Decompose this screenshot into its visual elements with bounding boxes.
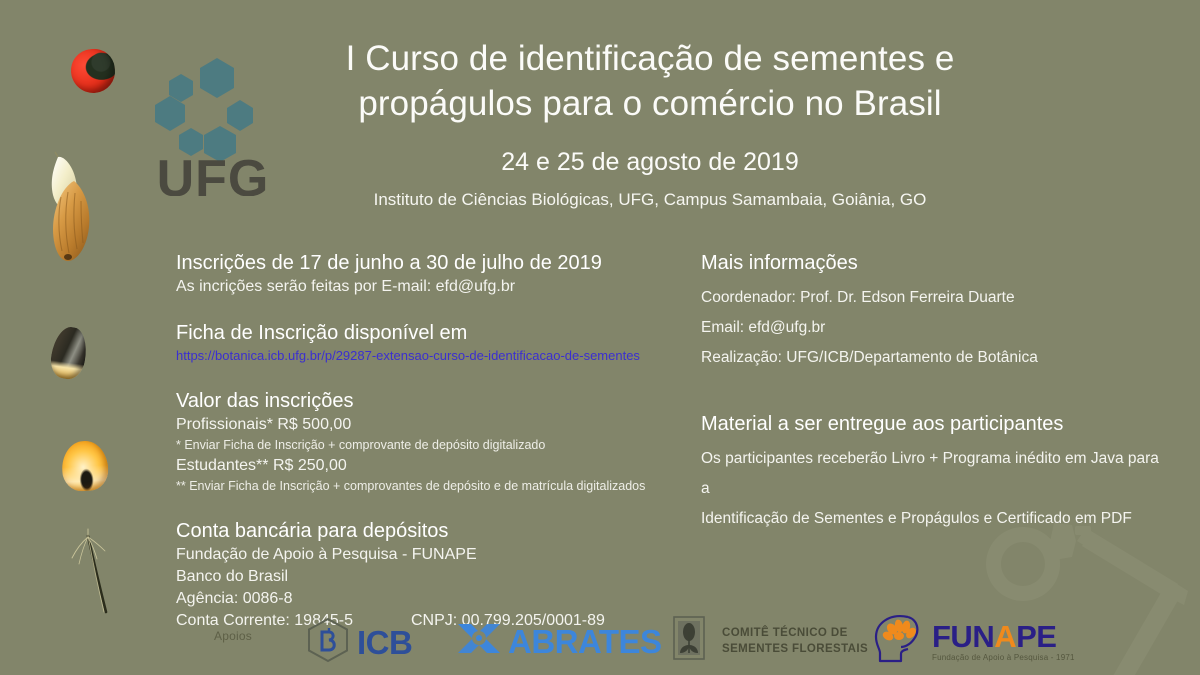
funape-part-2: A: [994, 619, 1016, 654]
info-heading: Mais informações: [701, 250, 1161, 276]
registration-note: As incrições serão feitas por E-mail: ef…: [176, 276, 646, 298]
material-line-1: Os participantes receberão Livro + Progr…: [701, 444, 1161, 504]
seed-image-dark: [48, 324, 91, 381]
registration-heading: Inscrições de 17 de junho a 30 de julho …: [176, 250, 646, 276]
ctsf-line-2: SEMENTES FLORESTAIS: [722, 643, 868, 655]
registration-form-link[interactable]: https://botanica.icb.ufg.br/p/29287-exte…: [176, 346, 640, 366]
funape-wordmark: FUNAPE Fundação de Apoio à Pesquisa - 19…: [932, 621, 1075, 662]
form-heading: Ficha de Inscrição disponível em: [176, 320, 646, 346]
logo-icb[interactable]: ICB: [305, 617, 412, 668]
funape-tagline: Fundação de Apoio à Pesquisa - 1971: [932, 653, 1075, 662]
event-location: Instituto de Ciências Biológicas, UFG, C…: [280, 190, 1020, 210]
material-line-2: Identificação de Sementes e Propágulos e…: [701, 504, 1161, 534]
bank-foundation: Fundação de Apoio à Pesquisa - FUNAPE: [176, 544, 646, 566]
fee-students: Estudantes** R$ 250,00: [176, 455, 646, 477]
bank-heading: Conta bancária para depósitos: [176, 518, 646, 544]
icb-label: ICB: [357, 624, 412, 662]
info-organizer: Realização: UFG/ICB/Departamento de Botâ…: [701, 343, 1161, 373]
material-heading: Material a ser entregue aos participante…: [701, 411, 1161, 437]
brain-head-icon: [868, 613, 928, 670]
funape-part-3: PE: [1016, 619, 1056, 654]
fee-professionals: Profissionais* R$ 500,00: [176, 414, 646, 436]
poster-canvas: UFG I Curso de identificação de sementes…: [0, 0, 1200, 675]
info-coordinator: Coordenador: Prof. Dr. Edson Ferreira Du…: [701, 283, 1161, 313]
bank-name: Banco do Brasil: [176, 566, 646, 588]
footer-sponsors: Apoios ICB: [0, 603, 1200, 675]
fee-students-note: ** Enviar Ficha de Inscrição + comprovan…: [176, 477, 646, 496]
seed-image-corn: [61, 440, 110, 492]
seed-image-red: [69, 47, 117, 95]
ctsf-label: COMITÊ TÉCNICO DE SEMENTES FLORESTAIS: [722, 625, 868, 657]
fee-professionals-note: * Enviar Ficha de Inscrição + comprovant…: [176, 436, 646, 455]
ufg-logo: UFG: [155, 48, 271, 196]
right-column: Mais informações Coordenador: Prof. Dr. …: [701, 250, 1161, 534]
support-label: Apoios: [214, 629, 252, 643]
info-email: Email: efd@ufg.br: [701, 313, 1161, 343]
logo-abrates[interactable]: ABRATES: [455, 619, 662, 664]
event-date: 24 e 25 de agosto de 2019: [280, 148, 1020, 177]
logo-comite-tecnico-sementes-florestais[interactable]: COMITÊ TÉCNICO DE SEMENTES FLORESTAIS: [672, 615, 868, 666]
ctsf-line-1: COMITÊ TÉCNICO DE: [722, 627, 848, 639]
abrates-mark-icon: [455, 619, 505, 664]
fees-heading: Valor das inscrições: [176, 388, 646, 414]
seed-sprout-icon: [672, 615, 706, 666]
left-column: Inscrições de 17 de junho a 30 de julho …: [176, 250, 646, 632]
abrates-label: ABRATES: [508, 623, 662, 661]
icb-hexagon-icon: [305, 617, 351, 668]
svg-text:UFG: UFG: [157, 150, 270, 196]
funape-part-1: FUN: [932, 619, 994, 654]
logo-funape[interactable]: FUNAPE Fundação de Apoio à Pesquisa - 19…: [868, 613, 1075, 670]
page-title: I Curso de identificação de sementes e p…: [280, 36, 1020, 126]
funape-label: FUNAPE: [932, 619, 1056, 654]
seed-image-almond: [44, 151, 104, 267]
